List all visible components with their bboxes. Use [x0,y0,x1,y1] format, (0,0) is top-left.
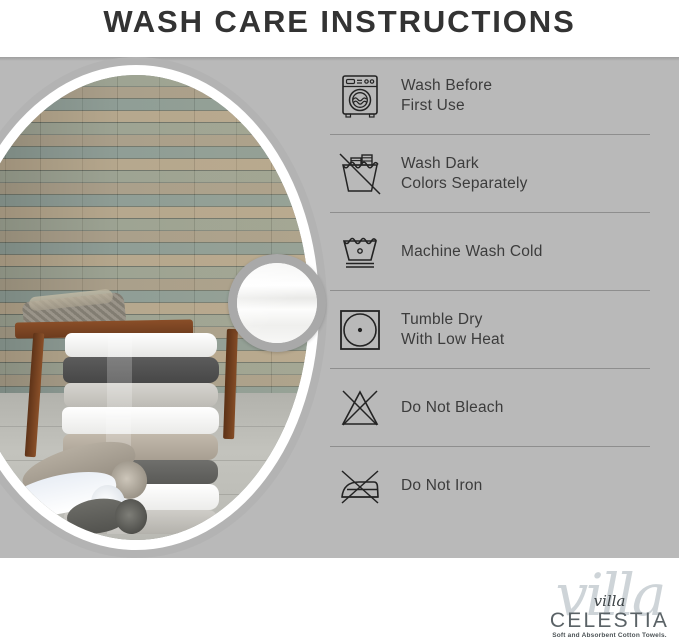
tumble-dry-low-heat-icon [330,306,390,354]
instruction-label: Wash Before First Use [401,76,492,116]
instruction-row: Wash Dark Colors Separately [330,135,650,213]
instruction-label: Wash Dark Colors Separately [401,154,528,194]
page-title: WASH CARE INSTRUCTIONS [0,0,679,44]
instruction-list: Wash Before First Use Wash Dark Colors S… [330,57,650,524]
do-not-bleach-icon [330,384,390,432]
do-not-iron-icon [330,462,390,510]
folded-towel [63,357,219,383]
instruction-label: Tumble Dry With Low Heat [401,310,504,350]
instruction-label: Machine Wash Cold [401,242,543,262]
magnifier-gloss [237,263,317,343]
folded-towel [64,383,218,407]
machine-wash-cold-icon [330,228,390,276]
folded-towel [65,333,217,357]
folded-towel [62,407,219,434]
magnifier-lens [237,263,317,343]
brand-logo: villa villa CELESTIA Soft and Absorbent … [540,564,679,642]
magnifier-circle [228,254,326,352]
logo-tagline: Soft and Absorbent Cotton Towels. [540,632,679,639]
instruction-row: Do Not Iron [330,447,650,524]
no-wash-dark-colors-icon [330,150,390,198]
instruction-row: Do Not Bleach [330,369,650,447]
logo-wordmark: CELESTIA [540,609,679,633]
logo-villa-text: villa [540,592,679,610]
instruction-label: Do Not Iron [401,476,482,496]
washing-machine-icon [330,72,390,120]
instruction-label: Do Not Bleach [401,398,504,418]
instruction-row: Machine Wash Cold [330,213,650,291]
instruction-row: Wash Before First Use [330,57,650,135]
instruction-row: Tumble Dry With Low Heat [330,291,650,369]
